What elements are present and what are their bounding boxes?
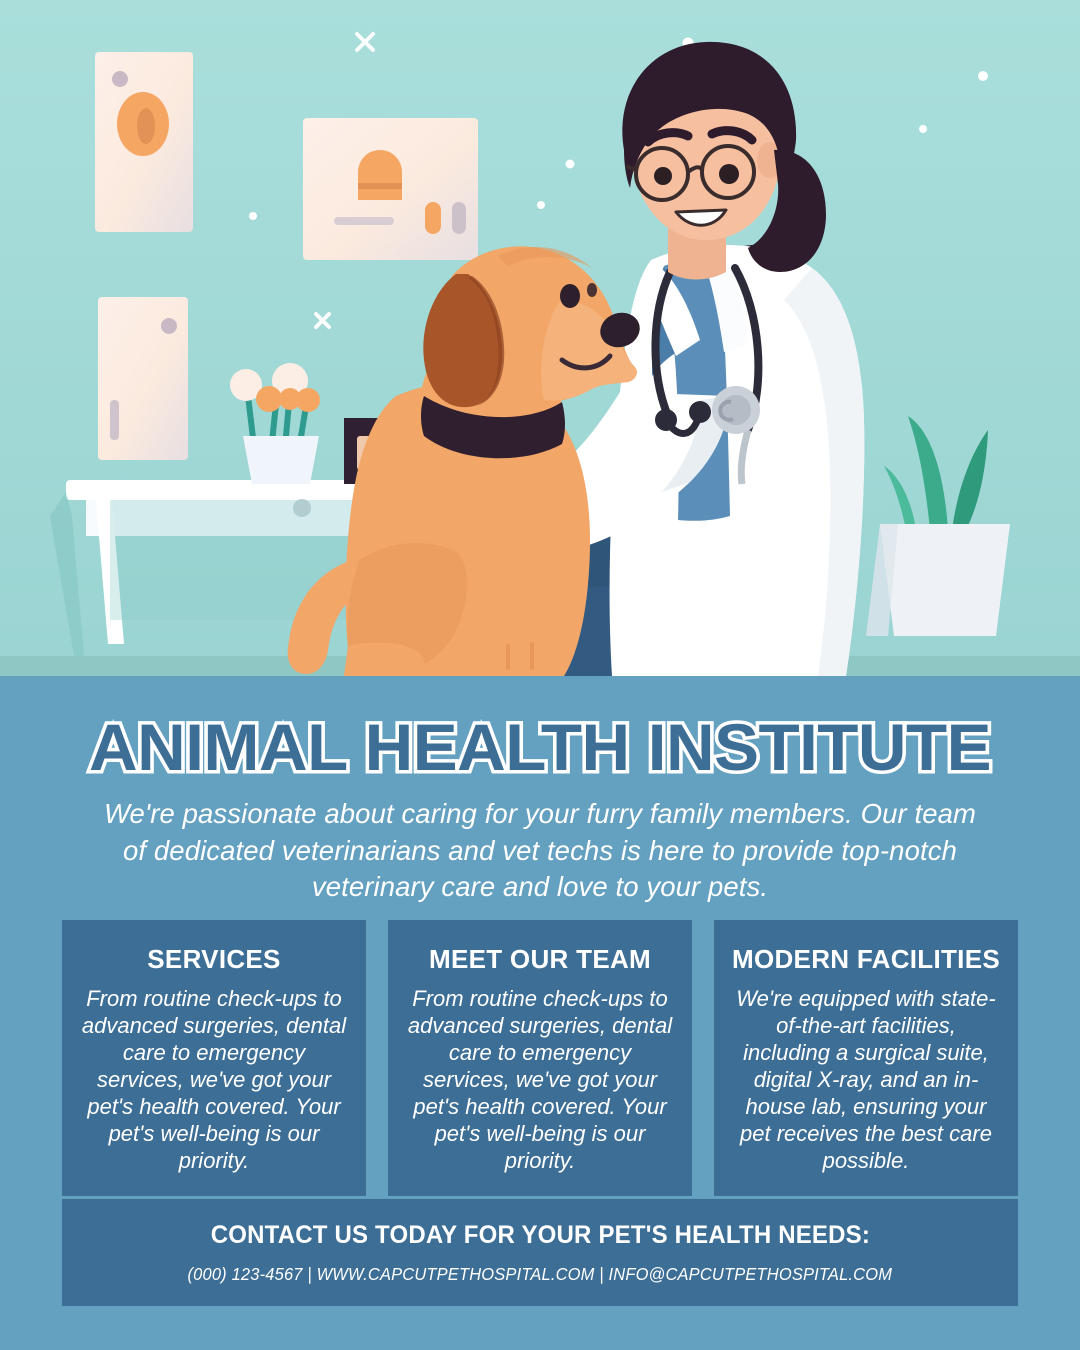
card-title-services: SERVICES <box>78 944 350 975</box>
card-body-meet-our-team: From routine check-ups to advanced surge… <box>404 985 676 1174</box>
contact-details[interactable]: (000) 123-4567 | WWW.CAPCUTPETHOSPITAL.C… <box>188 1264 893 1285</box>
poster-root: ANIMAL HEALTH INSTITUTE We're passionate… <box>0 0 1080 1350</box>
vet-eye-right <box>719 164 739 184</box>
contact-banner: CONTACT US TODAY FOR YOUR PET'S HEALTH N… <box>62 1199 1018 1306</box>
wall-poster-lower-left <box>98 297 188 460</box>
clinic-illustration <box>0 0 1080 690</box>
contact-headline: CONTACT US TODAY FOR YOUR PET'S HEALTH N… <box>210 1221 869 1250</box>
card-services: SERVICES From routine check-ups to advan… <box>62 920 366 1196</box>
feature-cards: SERVICES From routine check-ups to advan… <box>62 920 1018 1196</box>
dog-eye <box>560 284 580 308</box>
card-title-modern-facilities: MODERN FACILITIES <box>730 944 1002 975</box>
card-body-modern-facilities: We're equipped with state-of-the-art fac… <box>730 985 1002 1174</box>
wall-poster-wide-center <box>303 118 478 260</box>
wall-poster-tall-left <box>95 52 193 232</box>
card-body-services: From routine check-ups to advanced surge… <box>78 985 350 1174</box>
vet-eye-left <box>654 167 672 185</box>
poster-tagline: We're passionate about caring for your f… <box>100 796 980 906</box>
page-title: ANIMAL HEALTH INSTITUTE <box>0 676 1080 780</box>
card-meet-our-team: MEET OUR TEAM From routine check-ups to … <box>388 920 692 1196</box>
dog-paw <box>477 623 566 672</box>
poster-content: ANIMAL HEALTH INSTITUTE We're passionate… <box>0 676 1080 1350</box>
card-modern-facilities: MODERN FACILITIES We're equipped with st… <box>714 920 1018 1196</box>
card-title-meet-our-team: MEET OUR TEAM <box>404 944 676 975</box>
